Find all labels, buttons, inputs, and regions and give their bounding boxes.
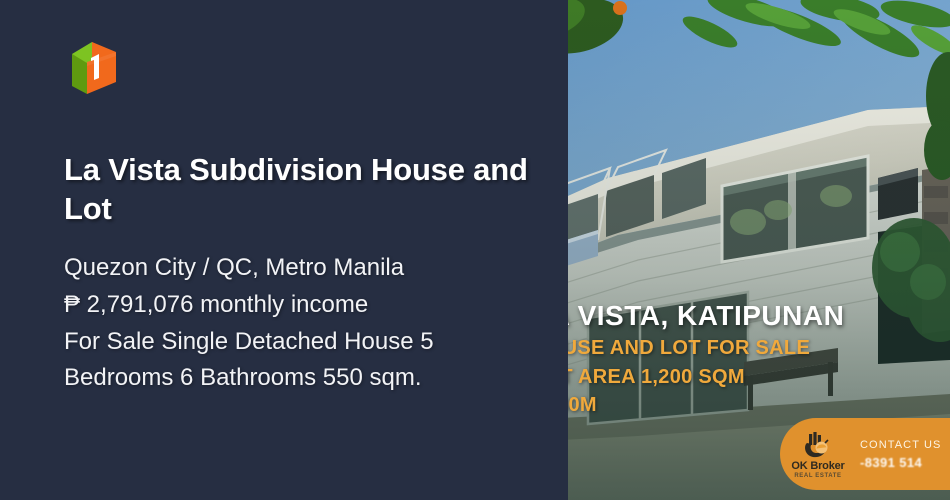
overlay-heading: LA VISTA, KATIPUNAN bbox=[568, 301, 950, 332]
overlay-line-1: HOUSE AND LOT FOR SALE bbox=[568, 337, 950, 361]
contact-info[interactable]: CONTACT US -8391 514 bbox=[856, 439, 950, 470]
photo-overlay-text: LA VISTA, KATIPUNAN HOUSE AND LOT FOR SA… bbox=[568, 301, 950, 418]
page-title: La Vista Subdivision House and Lot bbox=[64, 150, 528, 228]
overlay-line-2: LOT AREA 1,200 SQM bbox=[568, 366, 950, 390]
listing-description: For Sale Single Detached House 5 Bedroom… bbox=[64, 324, 528, 397]
property-photo-container: LA VISTA, KATIPUNAN HOUSE AND LOT FOR SA… bbox=[568, 0, 950, 500]
contact-badge[interactable]: OK Broker REAL ESTATE CONTACT US -8391 5… bbox=[780, 418, 950, 490]
listing-location: Quezon City / QC, Metro Manila bbox=[64, 250, 528, 287]
overlay-line-3: ₱180M bbox=[568, 394, 950, 418]
brand-logo[interactable] bbox=[64, 34, 126, 96]
hand-buildings-icon bbox=[803, 432, 833, 458]
contact-phone-number[interactable]: -8391 514 bbox=[860, 455, 950, 470]
listing-details: Quezon City / QC, Metro Manila ₱ 2,791,0… bbox=[64, 250, 528, 397]
property-listing-card: La Vista Subdivision House and Lot Quezo… bbox=[0, 0, 950, 500]
info-panel: La Vista Subdivision House and Lot Quezo… bbox=[0, 0, 568, 500]
broker-name: OK Broker bbox=[791, 460, 844, 472]
listing-price: ₱ 2,791,076 monthly income bbox=[64, 287, 528, 324]
contact-us-label: CONTACT US bbox=[860, 439, 950, 451]
broker-tagline: REAL ESTATE bbox=[794, 473, 841, 479]
broker-brand: OK Broker REAL ESTATE bbox=[780, 430, 856, 479]
